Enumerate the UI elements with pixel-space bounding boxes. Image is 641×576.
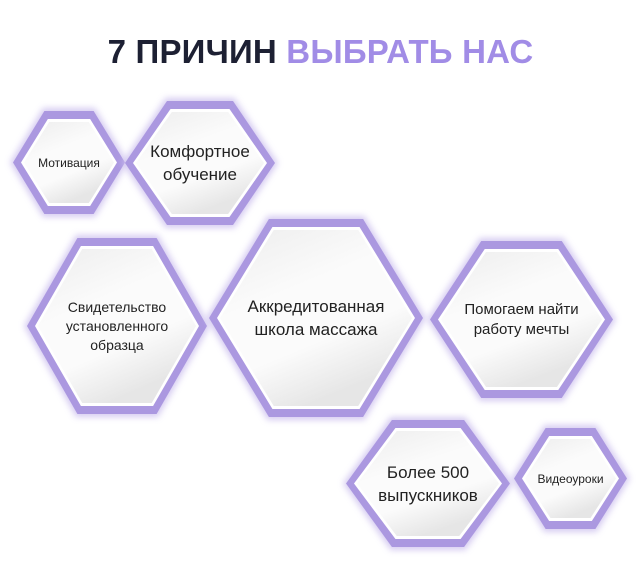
hexagon-shape-motivation: [8, 106, 130, 219]
hexagon-dream-job-help[interactable]: Помогаем найтиработу мечты: [425, 236, 618, 403]
hexagon-shape-dream-job-help: [425, 236, 618, 403]
hexagon-accredited-massage-school[interactable]: Аккредитованнаяшкола массажа: [204, 214, 428, 422]
hexagon-graduates-count[interactable]: Более 500выпускников: [341, 415, 515, 552]
hexagon-motivation[interactable]: Мотивация: [8, 106, 130, 219]
hexagon-official-certificate[interactable]: Свидетельствоустановленногообразца: [22, 233, 212, 419]
hexagon-diagram: МотивацияКомфортноеобучениеСвидетельство…: [0, 0, 641, 576]
hexagon-shape-official-certificate: [22, 233, 212, 419]
hexagon-shape-accredited-massage-school: [204, 214, 428, 422]
hexagon-shape-video-lessons: [509, 423, 632, 534]
hexagon-comfortable-learning[interactable]: Комфортноеобучение: [120, 96, 280, 230]
hexagon-shape-graduates-count: [341, 415, 515, 552]
hexagon-video-lessons[interactable]: Видеоуроки: [509, 423, 632, 534]
hexagon-shape-comfortable-learning: [120, 96, 280, 230]
